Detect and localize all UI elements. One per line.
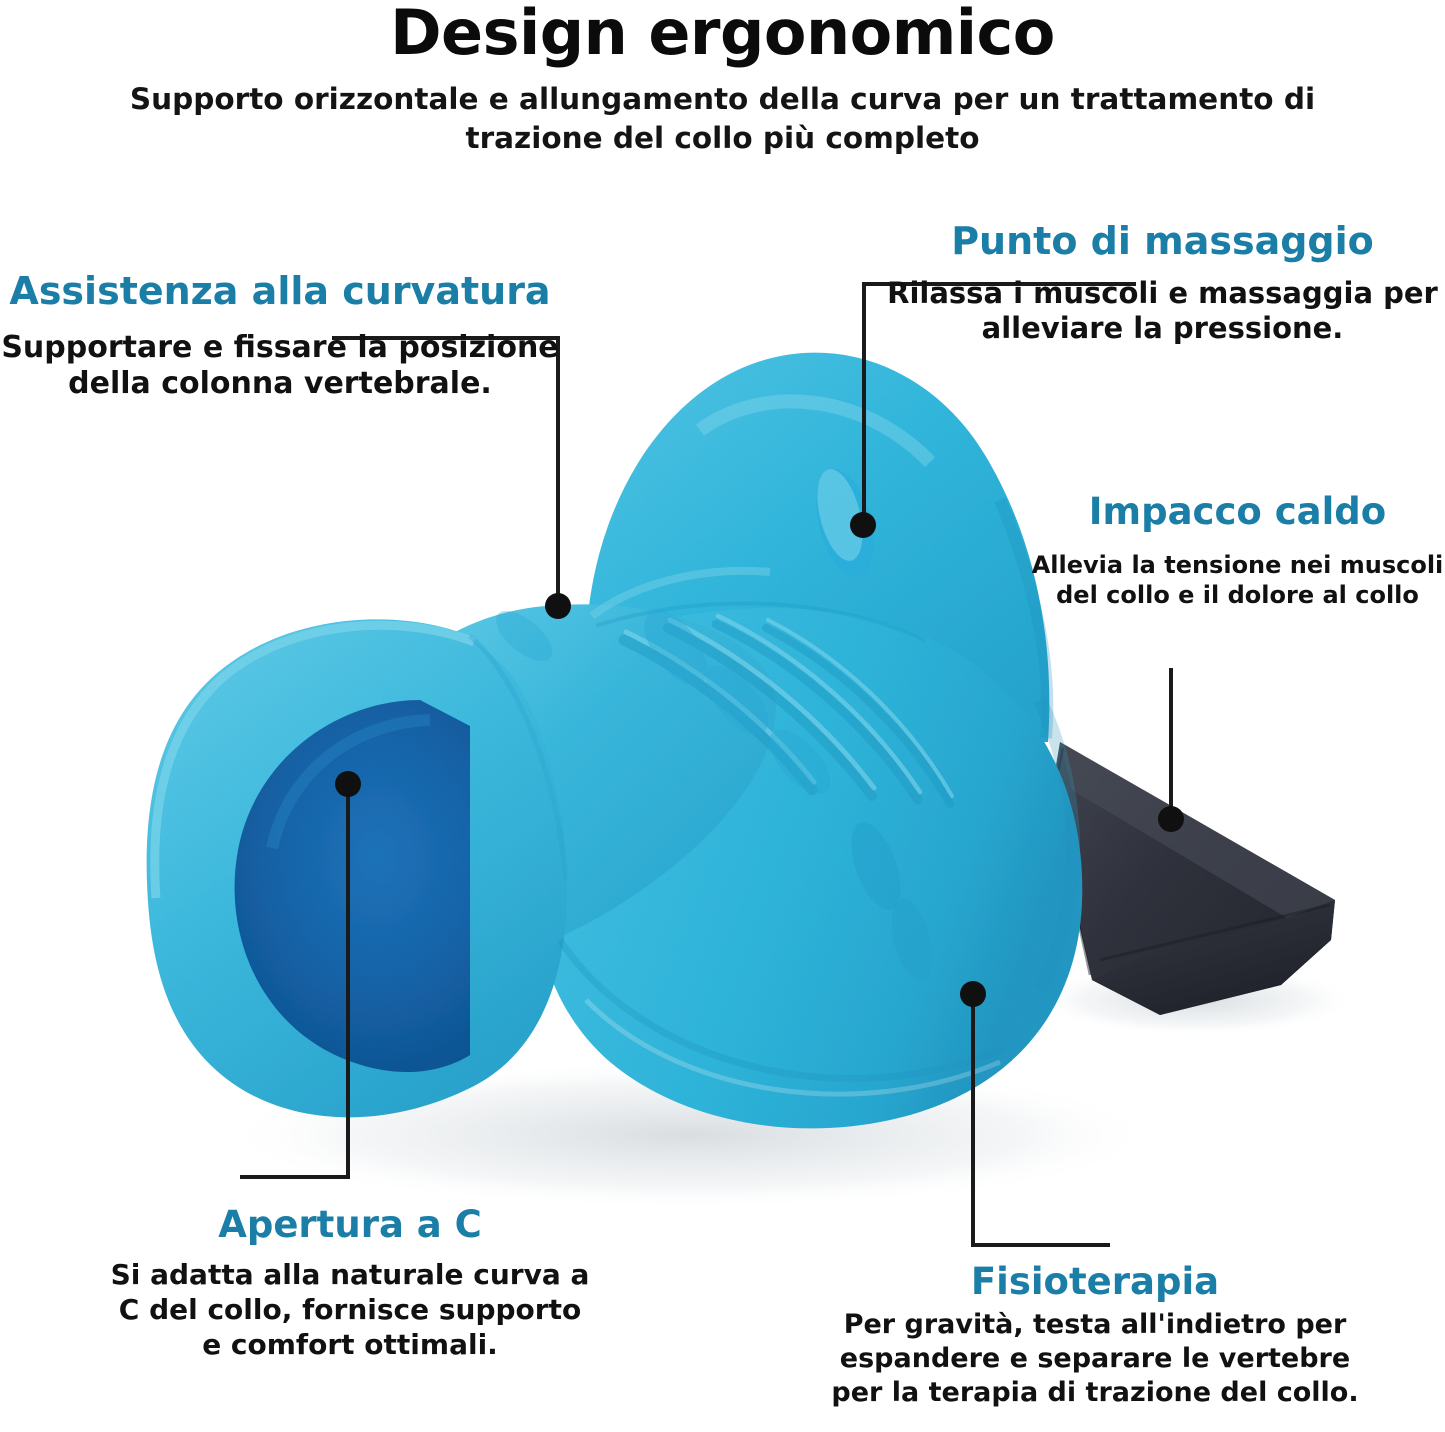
callout-body-line: alleviare la pressione. [880, 311, 1445, 346]
callout-heading-impacco: Impacco caldo [1030, 493, 1445, 532]
callout-body-line: Rilassa i muscoli e massaggia per [880, 276, 1445, 311]
device-body [147, 353, 1083, 1129]
infographic-page: Design ergonomico Supporto orizzontale e… [0, 0, 1445, 1432]
callout-heading-massaggio: Punto di massaggio [880, 222, 1445, 262]
callout-body-curvatura: Supportare e fissare la posizione della … [0, 330, 560, 403]
callout-body-line: C del collo, fornisce supporto [60, 1292, 640, 1327]
callout-body-line: e comfort ottimali. [60, 1327, 640, 1362]
header: Design ergonomico Supporto orizzontale e… [0, 0, 1445, 158]
callout-heading-curvatura: Assistenza alla curvatura [0, 272, 560, 312]
callout-body-line: Supportare e fissare la posizione [0, 330, 560, 367]
callout-heading-apertura: Apertura a C [60, 1206, 640, 1245]
callout-body-line: Allevia la tensione nei muscoli [1030, 550, 1445, 580]
callout-body-apertura: Si adatta alla naturale curva a C del co… [60, 1257, 640, 1363]
callout-body-line: Si adatta alla naturale curva a [60, 1257, 640, 1292]
callout-massaggio: Punto di massaggio Rilassa i muscoli e m… [880, 222, 1445, 347]
callout-body-massaggio: Rilassa i muscoli e massaggia per allevi… [880, 276, 1445, 347]
page-subtitle: Supporto orizzontale e allungamento dell… [0, 80, 1445, 158]
callout-body-fisioterapia: Per gravità, testa all'indietro per espa… [800, 1308, 1390, 1410]
callout-curvatura: Assistenza alla curvatura Supportare e f… [0, 272, 560, 403]
callout-body-impacco: Allevia la tensione nei muscoli del coll… [1030, 550, 1445, 610]
callout-heading-fisioterapia: Fisioterapia [800, 1263, 1390, 1302]
callout-body-line: espandere e separare le vertebre [800, 1342, 1390, 1376]
callout-body-line: del collo e il dolore al collo [1030, 580, 1445, 610]
callout-apertura: Apertura a C Si adatta alla naturale cur… [60, 1206, 640, 1363]
callout-body-line: della colonna vertebrale. [0, 366, 560, 403]
hot-compress-pouch [1050, 742, 1335, 1015]
page-title: Design ergonomico [0, 2, 1445, 64]
callout-fisioterapia: Fisioterapia Per gravità, testa all'indi… [800, 1263, 1390, 1410]
callout-body-line: Per gravità, testa all'indietro per [800, 1308, 1390, 1342]
callout-impacco: Impacco caldo Allevia la tensione nei mu… [1030, 493, 1445, 610]
callout-body-line: per la terapia di trazione del collo. [800, 1376, 1390, 1410]
